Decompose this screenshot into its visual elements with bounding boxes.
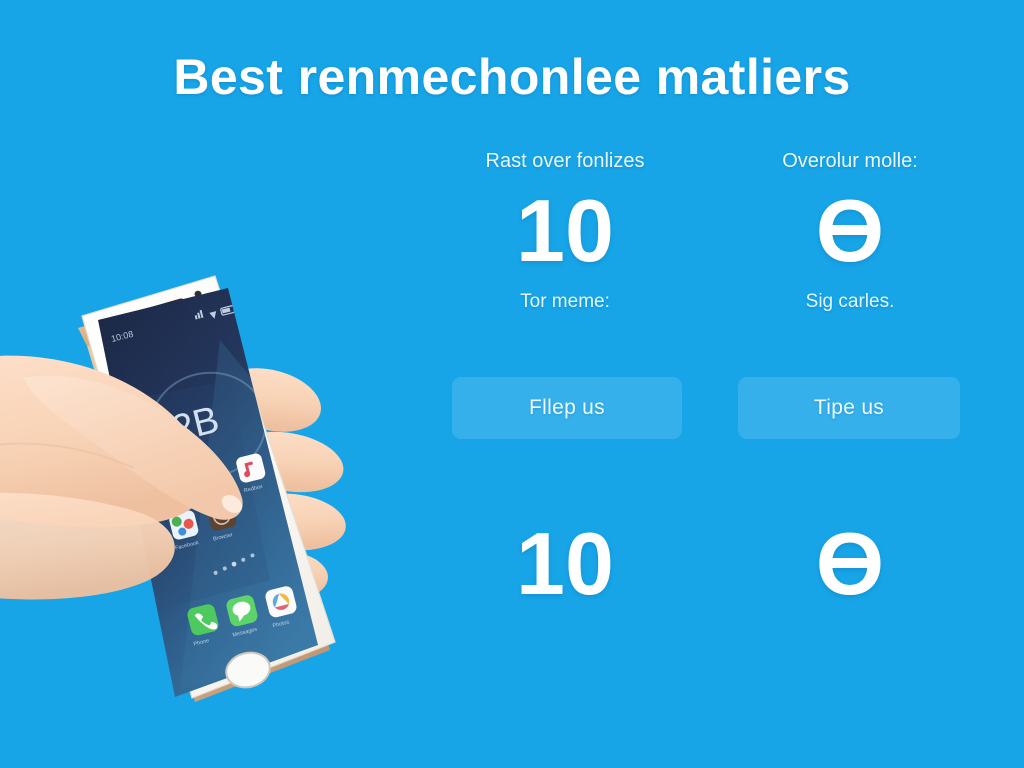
fllep-us-button[interactable]: Fllep us <box>452 377 682 439</box>
stat-sub-label-right: Sig carles. <box>730 291 970 313</box>
stat-value-bottom-right: Ө <box>730 520 970 608</box>
hand-holding-smartphone-illustration: 10:08 2B <box>0 250 400 720</box>
stat-value-right: Ө <box>730 187 970 275</box>
stat-column-bottom-left: 10 <box>440 520 690 608</box>
poster-root: Best renmechonlee matliers <box>0 0 1024 768</box>
stat-column-right: Overolur molle: Ө Sig carles. <box>730 150 970 313</box>
stat-column-bottom-right: Ө <box>730 520 970 608</box>
stat-value-bottom-left: 10 <box>440 520 690 608</box>
tipe-us-button[interactable]: Tipe us <box>738 377 960 439</box>
stat-value-left: 10 <box>440 187 690 275</box>
page-title: Best renmechonlee matliers <box>0 48 1024 106</box>
stat-top-label-left: Rast over fonlizes <box>440 150 690 173</box>
stat-sub-label-left: Tor meme: <box>440 291 690 313</box>
stat-top-label-right: Overolur molle: <box>730 150 970 173</box>
stat-column-left: Rast over fonlizes 10 Tor meme: <box>440 150 690 313</box>
